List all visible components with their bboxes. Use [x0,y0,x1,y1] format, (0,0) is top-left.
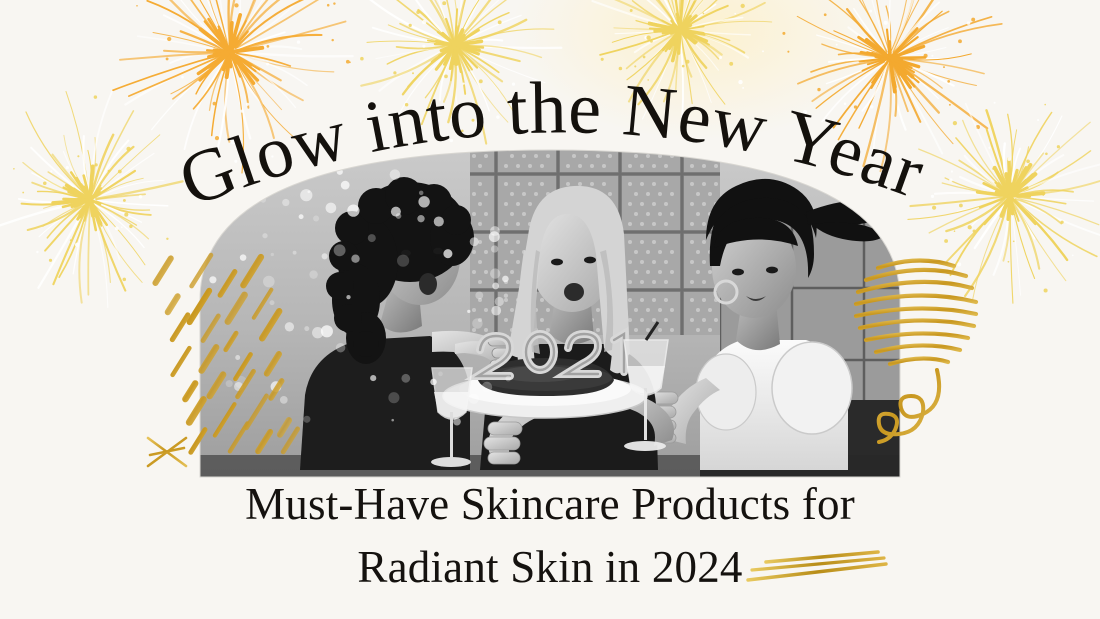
photo-arch-outline [200,150,900,477]
gold-scribble-balloon [856,260,976,364]
firework-top-center-yellow [360,0,561,144]
person-right [644,179,890,470]
firework-top-right-orange [782,0,1001,171]
champagne-glass-right [624,322,668,451]
subheadline-line-1: Must-Have Skincare Products for [0,478,1100,530]
person-left [300,177,518,470]
gold-curly-string [879,370,939,442]
warm-glow-top [510,0,890,140]
gold-sparkle-star [148,430,186,474]
photo-content [200,140,905,485]
firework-top-left-orange [113,0,353,173]
page-title: Glow into the New Year [169,67,936,223]
subheadline-line-2: Radiant Skin in 2024 [0,541,1100,593]
poster-canvas: Glow into the New Year Must-Have Skincar… [0,0,1100,619]
person-center [480,186,674,470]
firework-right-yellow [908,102,1100,303]
gold-confetti-dashes [155,255,297,452]
champagne-glass-left [431,368,472,467]
firework-top-mid-yellow [592,0,771,121]
firework-left-yellow [0,91,183,307]
cake-with-2021-candles [443,334,647,418]
